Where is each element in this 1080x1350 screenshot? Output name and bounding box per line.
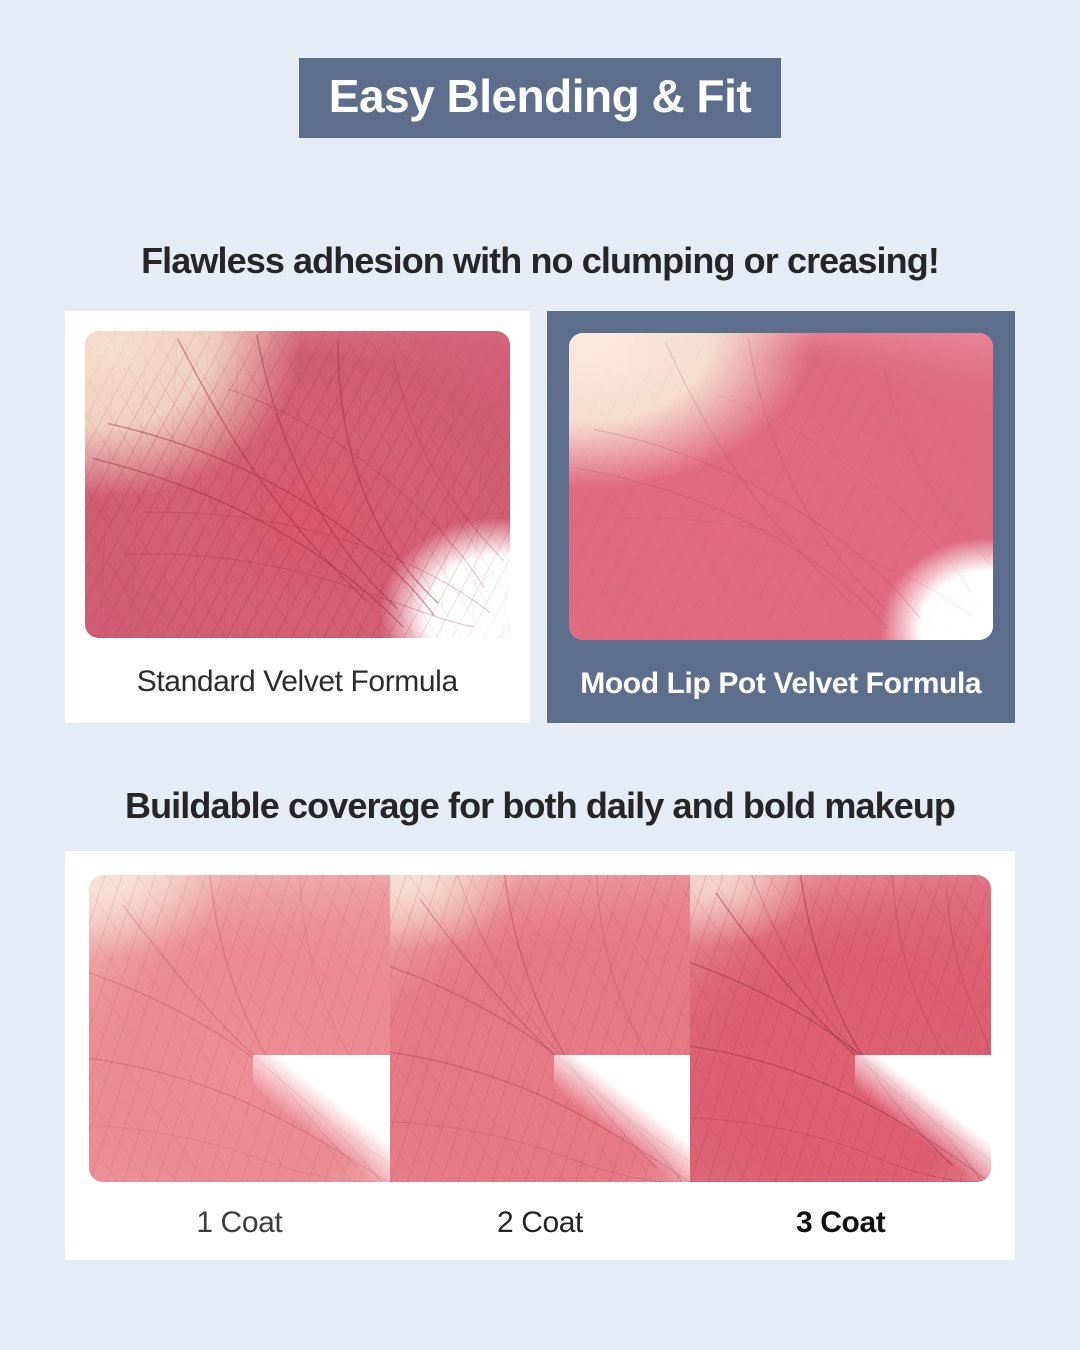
- palm-crease-lines-icon: [569, 333, 993, 629]
- palm-crease-lines-icon: [89, 875, 390, 1182]
- page-title: Easy Blending & Fit: [299, 58, 781, 138]
- coat-swatch-3: [690, 875, 991, 1182]
- coat-swatch-2: [390, 875, 691, 1182]
- comparison-card-mood-lip-pot: Mood Lip Pot Velvet Formula: [547, 311, 1016, 723]
- mood-lip-pot-velvet-swatch-photo: [569, 333, 994, 640]
- coat-label-row: 1 Coat 2 Coat 3 Coat: [89, 1182, 991, 1238]
- comparison-card-standard: Standard Velvet Formula: [65, 311, 530, 723]
- adhesion-heading-row: Flawless adhesion with no clumping or cr…: [0, 240, 1080, 282]
- palm-crease-lines-icon: [390, 875, 691, 1182]
- standard-velvet-swatch-photo: [85, 331, 510, 638]
- banner-row: Easy Blending & Fit: [0, 0, 1080, 138]
- coat-label-1: 1 Coat: [89, 1208, 390, 1238]
- palm-crease-lines-icon: [690, 875, 991, 1182]
- coat-label-3: 3 Coat: [690, 1208, 991, 1238]
- coat-swatch-strip: [89, 875, 991, 1182]
- comparison-card-group: Standard Velvet Formula Mood Lip Po: [65, 311, 1015, 723]
- coat-label-2: 2 Coat: [390, 1208, 691, 1238]
- palm-crease-lines-icon: [85, 331, 509, 627]
- card-label-mood-lip-pot: Mood Lip Pot Velvet Formula: [580, 640, 981, 699]
- section-heading-buildable: Buildable coverage for both daily and bo…: [0, 785, 1080, 827]
- coat-swatch-1: [89, 875, 390, 1182]
- buildable-coverage-card: 1 Coat 2 Coat 3 Coat: [65, 851, 1015, 1260]
- card-label-standard: Standard Velvet Formula: [137, 638, 458, 697]
- section-heading-adhesion: Flawless adhesion with no clumping or cr…: [0, 240, 1080, 282]
- buildable-heading-row: Buildable coverage for both daily and bo…: [0, 785, 1080, 827]
